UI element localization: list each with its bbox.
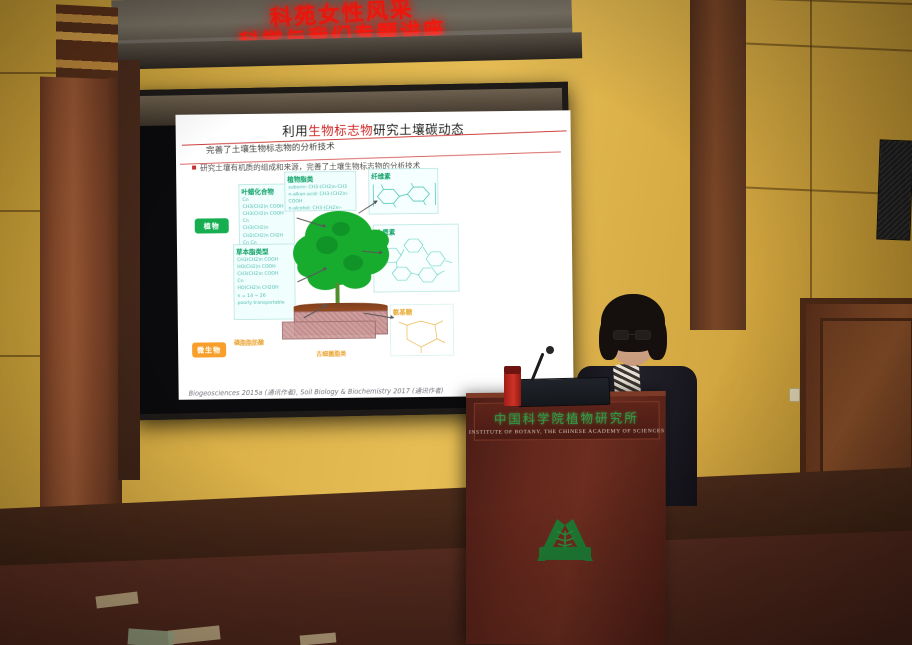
right-column	[690, 0, 746, 330]
wall-loudspeaker	[876, 139, 912, 240]
lectern-podium: 中国科学院植物研究所 INSTITUTE OF BOTANY, THE CHIN…	[466, 391, 666, 645]
ib-cas-logo: IB-CAS	[515, 505, 615, 575]
red-thermos[interactable]	[504, 372, 521, 406]
light-switch[interactable]	[789, 388, 800, 402]
bullet-marker-icon	[192, 166, 196, 170]
ib-cas-logo-icon	[515, 505, 615, 575]
podium-nameplate: 中国科学院植物研究所 INSTITUTE OF BOTANY, THE CHIN…	[474, 401, 660, 441]
glasses-bridge-icon	[629, 334, 635, 335]
microbe-badge: 微生物	[192, 342, 226, 357]
amino-sugar-structure-icon	[391, 317, 454, 356]
thermos-cap	[504, 366, 521, 374]
suberin-label: 植物脂类	[287, 173, 355, 184]
microphone-head-icon	[546, 346, 554, 354]
glasses-left-lens-icon	[613, 330, 629, 340]
floor-paper	[127, 628, 174, 645]
glasses-right-lens-icon	[635, 330, 651, 340]
podium-english-text: INSTITUTE OF BOTANY, THE CHINESE ACADEMY…	[469, 428, 665, 435]
left-column-capital	[56, 4, 118, 85]
presentation-slide: 利用生物标志物研究土壤碳动态 完善了土壤生物标志物的分析技术 研究土壤有机质的组…	[175, 110, 573, 399]
soil-layer-label: 古细菌脂类	[316, 349, 346, 358]
lecture-hall-photo: 科苑女性风采 科学与我们专题讲座 利用生物标志物研究土壤碳动态 完善了土壤生物标…	[0, 0, 912, 645]
soil-profile-lower	[282, 321, 376, 340]
podium-chinese-text: 中国科学院植物研究所	[494, 407, 639, 427]
wall-seam	[810, 0, 812, 300]
plant-badge: 植物	[195, 218, 229, 233]
laptop-on-podium[interactable]	[518, 377, 611, 407]
slide-title-prefix: 利用	[282, 123, 308, 138]
microbial-lipid-label: 磷脂脂肪酸	[234, 338, 264, 347]
wall-dark-strip	[118, 60, 140, 480]
ib-cas-logo-text: IB-CAS	[515, 545, 615, 557]
slide-title-highlight: 生物标志物	[308, 123, 373, 139]
door-upper-panel	[820, 318, 912, 488]
